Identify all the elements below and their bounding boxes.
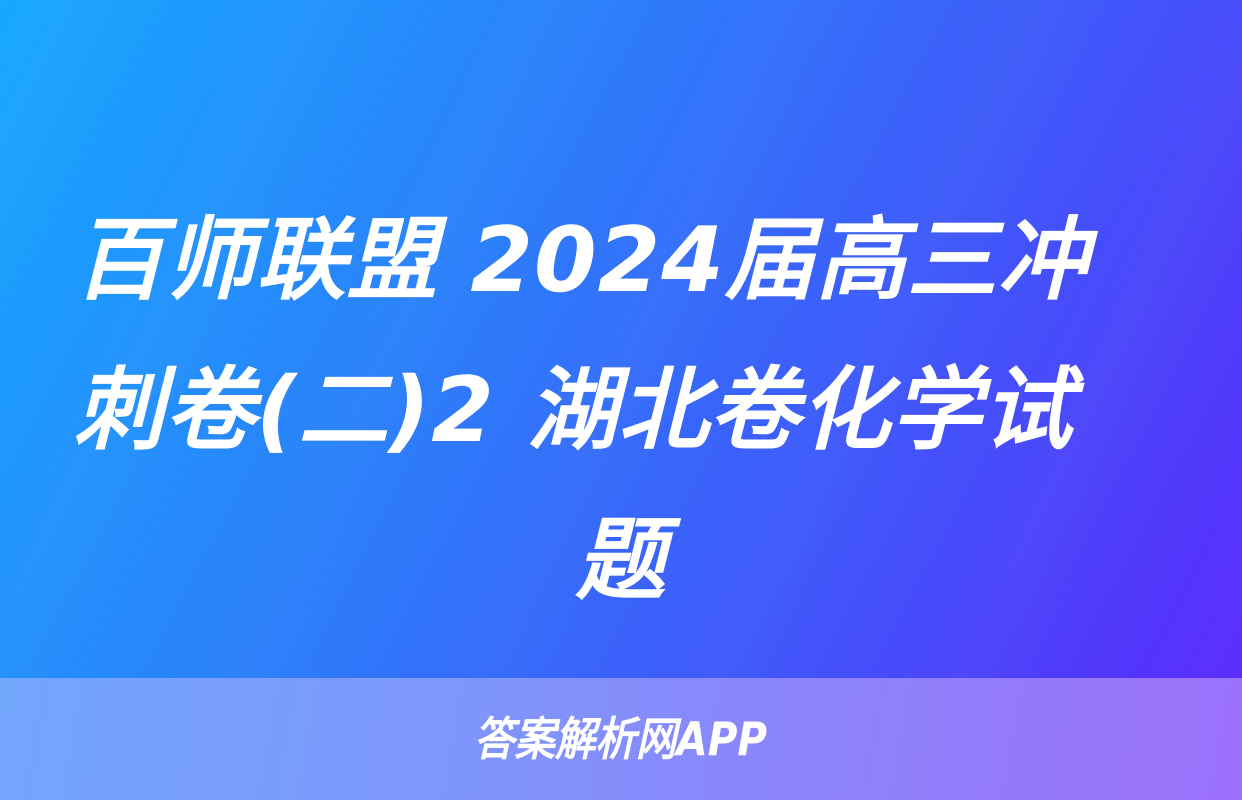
page-title: 百师联盟 2024届高三冲 刺卷(二)2 湖北卷化学试 题 — [0, 186, 1242, 636]
watermark-band: 答案解析网APP — [0, 678, 1242, 800]
watermark-app-label: 答案解析网APP — [474, 716, 767, 762]
title-line-1: 百师联盟 2024届高三冲 — [74, 186, 1168, 336]
title-line-2: 刺卷(二)2 湖北卷化学试 — [74, 336, 1168, 486]
poster-cover-image: 百师联盟 2024届高三冲 刺卷(二)2 湖北卷化学试 题 答案解析网APP — [0, 0, 1242, 800]
title-line-3: 题 — [74, 486, 1168, 636]
